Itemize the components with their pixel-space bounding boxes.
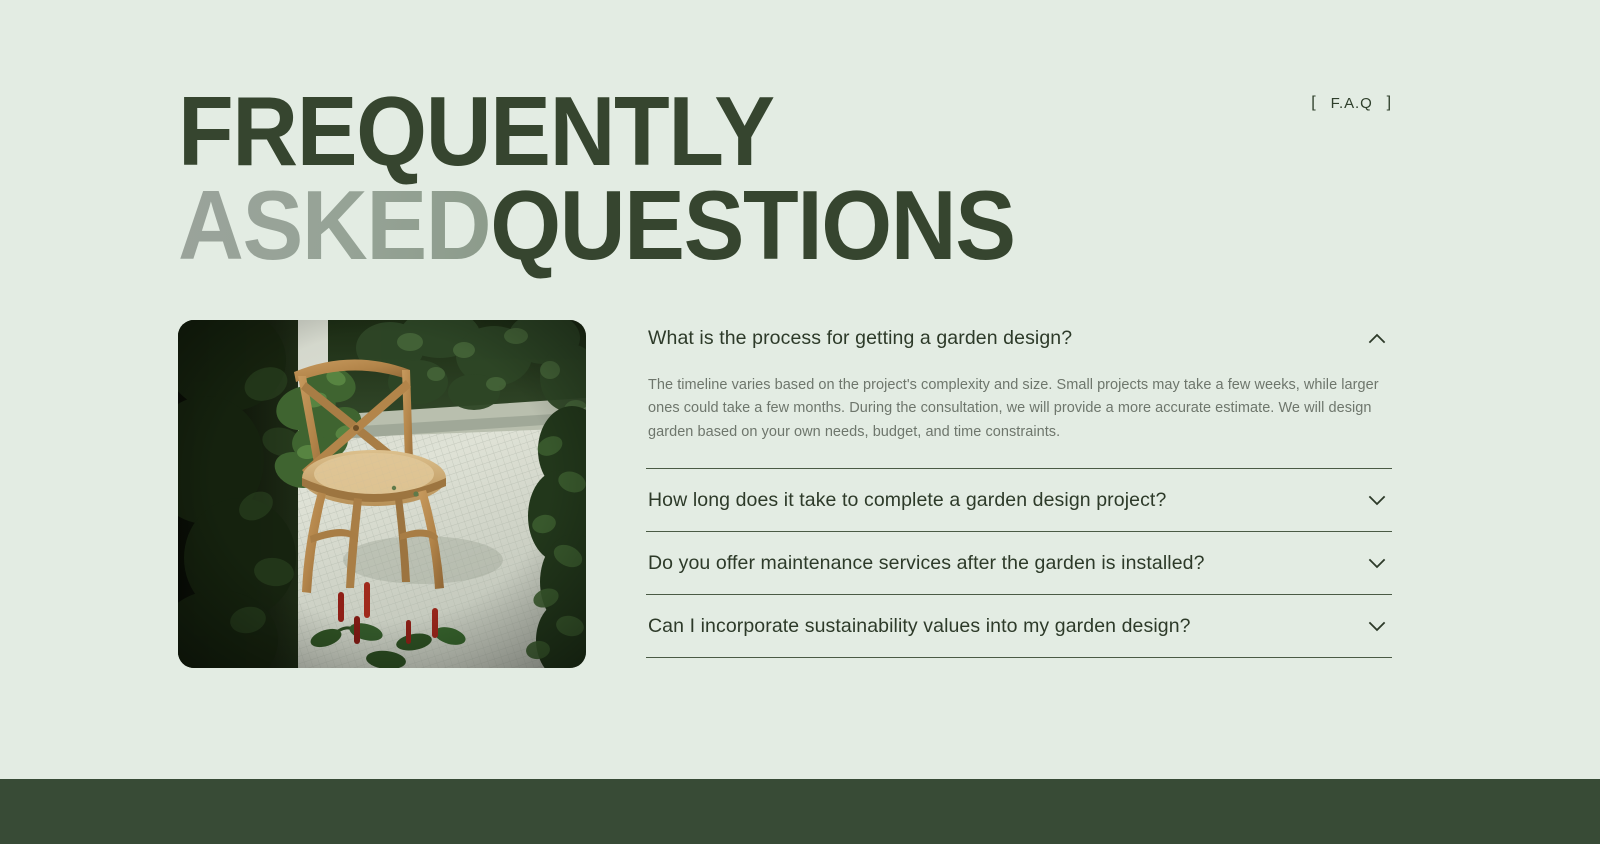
faq-content-row: What is the process for getting a garden… <box>178 320 1392 668</box>
chevron-down-icon[interactable] <box>1366 489 1388 511</box>
footer-band <box>0 779 1600 844</box>
faq-tag-label: F.A.Q <box>1331 95 1373 112</box>
faq-section-tag: [ F.A.Q ] <box>1311 94 1392 112</box>
faq-question: What is the process for getting a garden… <box>648 326 1072 351</box>
faq-question: Do you offer maintenance services after … <box>648 551 1205 576</box>
chevron-up-icon[interactable] <box>1366 328 1388 350</box>
page-title: FREQUENTLY ASKEDQUESTIONS <box>178 88 1078 268</box>
title-word-questions: QUESTIONS <box>490 170 1014 280</box>
faq-accordion: What is the process for getting a garden… <box>646 322 1392 658</box>
faq-item: How long does it take to complete a gard… <box>646 469 1392 532</box>
faq-item: Do you offer maintenance services after … <box>646 532 1392 595</box>
faq-item-header[interactable]: What is the process for getting a garden… <box>646 324 1392 354</box>
garden-chair-photo <box>178 320 586 668</box>
title-line-2: ASKEDQUESTIONS <box>178 182 1015 268</box>
faq-question: How long does it take to complete a gard… <box>648 488 1166 513</box>
faq-question: Can I incorporate sustainability values … <box>648 614 1191 639</box>
bracket-open-icon: [ <box>1311 94 1316 112</box>
faq-item: Can I incorporate sustainability values … <box>646 595 1392 658</box>
title-word-asked: ASKED <box>178 170 490 280</box>
faq-item: What is the process for getting a garden… <box>646 322 1392 469</box>
faq-item-header[interactable]: Can I incorporate sustainability values … <box>646 595 1392 657</box>
title-line-1: FREQUENTLY <box>178 88 1015 174</box>
bracket-close-icon: ] <box>1387 94 1392 112</box>
faq-page: [ F.A.Q ] FREQUENTLY ASKEDQUESTIONS <box>0 0 1600 844</box>
faq-item-header[interactable]: How long does it take to complete a gard… <box>646 469 1392 531</box>
chevron-down-icon[interactable] <box>1366 552 1388 574</box>
faq-item-header[interactable]: Do you offer maintenance services after … <box>646 532 1392 594</box>
chevron-down-icon[interactable] <box>1366 615 1388 637</box>
faq-answer: The timeline varies based on the project… <box>648 374 1388 444</box>
faq-answer-panel: The timeline varies based on the project… <box>646 354 1392 468</box>
